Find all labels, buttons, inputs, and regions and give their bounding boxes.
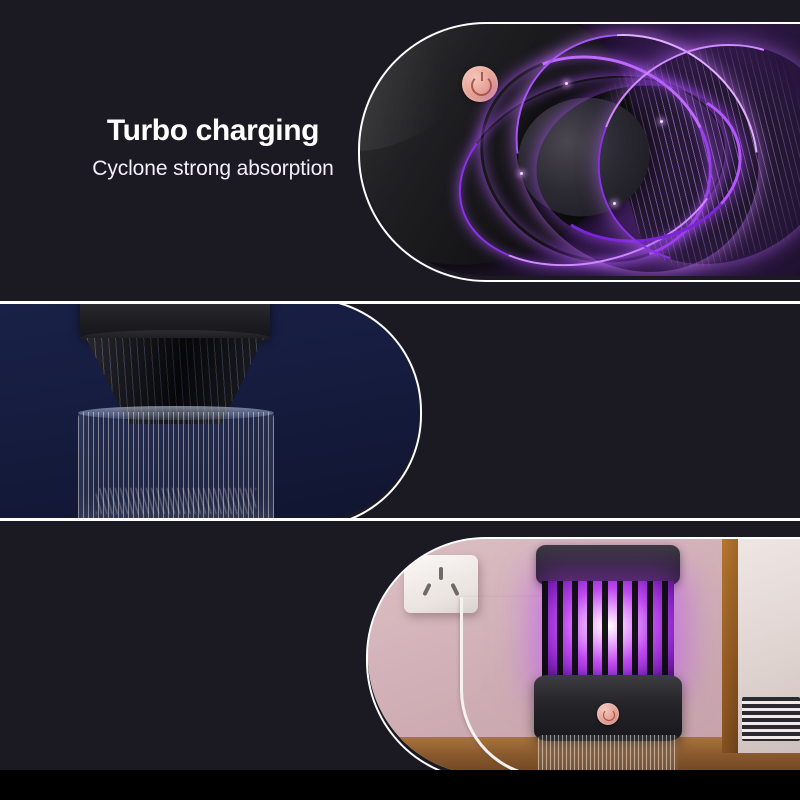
panel-headline: Turbo charging xyxy=(78,114,348,147)
power-button-icon xyxy=(597,703,619,725)
headline-pill-typec xyxy=(60,545,600,767)
panel-divider xyxy=(0,518,800,521)
panel-subline: Cyclone strong absorption xyxy=(78,156,348,181)
stacked-books xyxy=(742,697,800,741)
panel-divider xyxy=(0,301,800,304)
feature-panel-turbo-charging: Turbo charging Cyclone strong absorption xyxy=(0,0,800,301)
feature-panel-type-c-charging: Type-C charging Long battery life xyxy=(0,521,800,770)
bottom-black-band xyxy=(0,770,800,800)
power-symbol-glyph xyxy=(603,709,615,721)
light-spark xyxy=(660,120,663,123)
light-spark xyxy=(613,202,616,205)
feature-panel-detachable-design: Detachable design Large-capacity storage xyxy=(0,304,800,518)
picture-frame-edge xyxy=(722,539,738,753)
headline-pill-detachable xyxy=(300,322,800,518)
feature-text-turbo-charging: Turbo charging Cyclone strong absorption xyxy=(78,114,348,181)
product-feature-banner: Turbo charging Cyclone strong absorption… xyxy=(0,0,800,800)
chamber-contents xyxy=(96,488,256,514)
